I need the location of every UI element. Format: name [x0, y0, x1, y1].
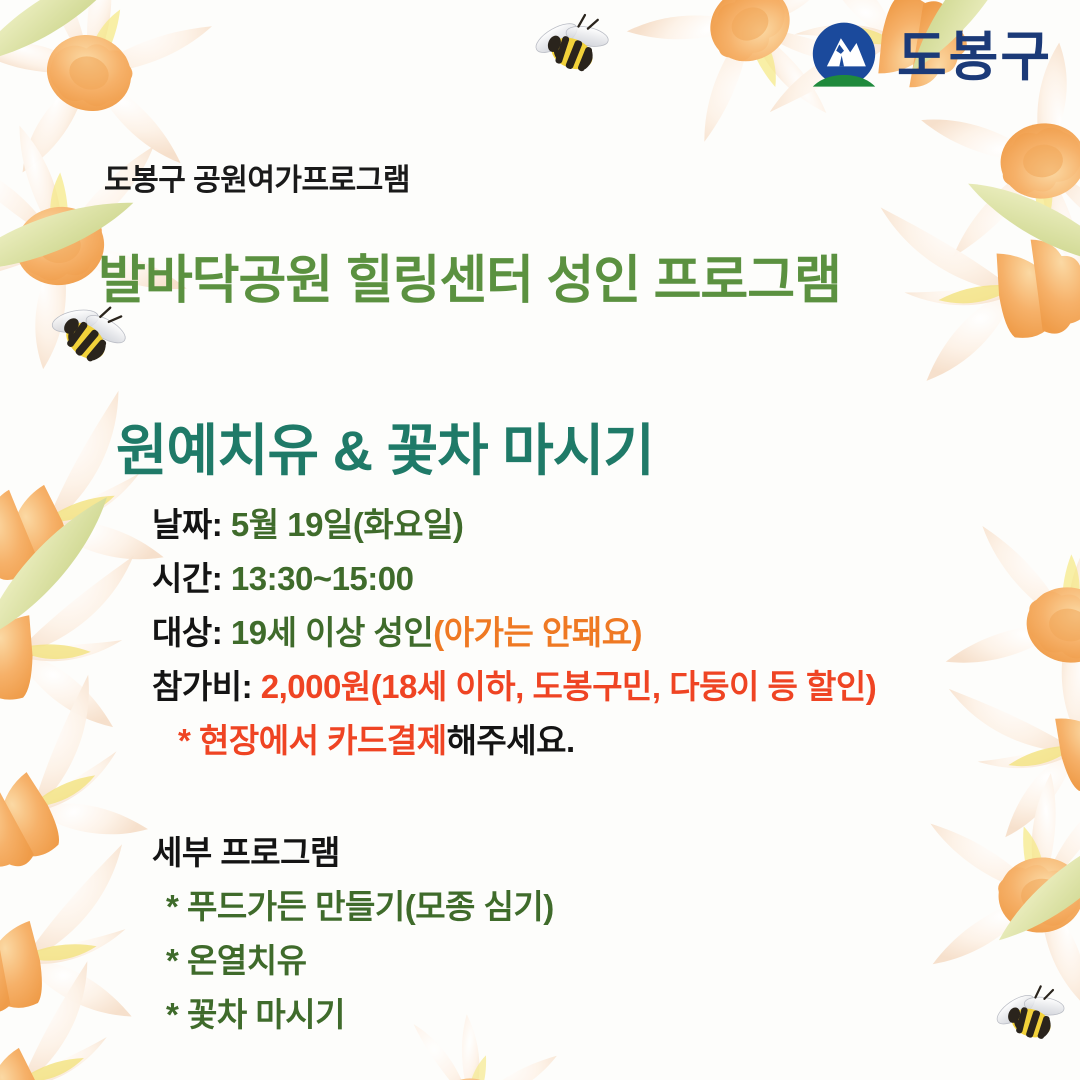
detailed-program-section: 세부 프로그램 * 푸드가든 만들기(모종 심기) * 온열치유 * 꽃차 마시… [152, 826, 554, 1042]
info-row-target: 대상: 19세 이상 성인(아가는 안돼요) [152, 606, 876, 660]
date-value: 5월 19일(화요일) [231, 506, 464, 543]
date-label: 날짜: [152, 506, 222, 543]
list-item: * 푸드가든 만들기(모종 심기) [152, 880, 554, 934]
leaf-blade [0, 464, 144, 674]
list-item: * 꽃차 마시기 [152, 988, 554, 1042]
target-label: 대상: [152, 614, 222, 651]
program-subject-title: 원예치유 & 꽃차 마시기 [116, 406, 654, 487]
daffodil-side-watercolor [872, 122, 1080, 437]
daffodil-side-watercolor [0, 941, 147, 1080]
info-row-date: 날짜: 5월 19일(화요일) [152, 498, 876, 552]
time-value: 13:30~15:00 [231, 560, 414, 597]
bee-icon [520, 5, 620, 92]
fee-value: 2,000원(18세 이하, 도봉구민, 다둥이 등 할인) [261, 668, 876, 705]
info-row-fee: 참가비: 2,000원(18세 이하, 도봉구민, 다둥이 등 할인) [152, 660, 876, 714]
leaf-blade [971, 797, 1080, 970]
leaf-blade [945, 154, 1080, 296]
dobong-gu-mountain-emblem-icon [805, 18, 883, 96]
bee-icon [980, 975, 1078, 1063]
target-value: 19세 이상 성인 [231, 614, 433, 651]
program-info-list: 날짜: 5월 19일(화요일) 시간: 13:30~15:00 대상: 19세 … [152, 498, 876, 768]
page-title: 발바닥공원 힐링센터 성인 프로그램 [98, 238, 841, 313]
kicker-text: 도봉구 공원여가프로그램 [104, 155, 410, 199]
fee-label: 참가비: [152, 668, 252, 705]
payment-note-tail: 해주세요. [447, 722, 575, 759]
payment-note-highlight: * 현장에서 카드결제 [178, 722, 447, 759]
daffodil-side-watercolor [940, 592, 1080, 887]
daffodil-side-watercolor [0, 654, 172, 966]
list-item: * 온열치유 [152, 934, 554, 988]
info-row-time: 시간: 13:30~15:00 [152, 552, 876, 606]
dobong-gu-logo: 도봉구 [805, 18, 1052, 96]
daffodil-side-watercolor [0, 508, 138, 783]
time-label: 시간: [152, 560, 222, 597]
daffodil-watercolor [904, 758, 1080, 1033]
daffodil-side-watercolor [0, 822, 140, 1080]
info-row-payment-note: * 현장에서 카드결제해주세요. [152, 714, 876, 768]
target-note: (아가는 안돼요) [433, 614, 642, 651]
daffodil-watercolor [924, 480, 1080, 770]
leaf-blade [0, 0, 146, 88]
detailed-program-heading: 세부 프로그램 [152, 826, 554, 880]
dobong-gu-logo-text: 도봉구 [897, 30, 1052, 84]
poster-canvas: 도봉구 도봉구 공원여가프로그램 발바닥공원 힐링센터 성인 프로그램 원예치유… [0, 0, 1080, 1080]
